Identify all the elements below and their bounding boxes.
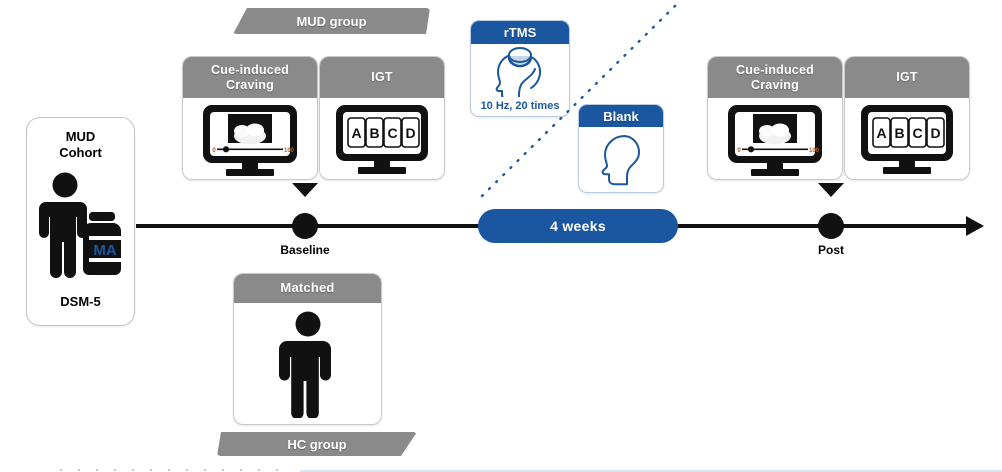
mud-cohort-graphic: MA: [27, 170, 134, 288]
baseline-node-dot: [292, 213, 318, 239]
banner-mud-group: MUD group: [233, 8, 430, 34]
svg-text:100: 100: [809, 148, 820, 154]
person-icon: [275, 310, 341, 418]
hc-matched-label: Matched: [280, 281, 334, 296]
baseline-card-cue-induced-craving: Cue-induced Craving 0 100: [182, 56, 318, 180]
svg-text:C: C: [912, 125, 922, 141]
rtms-note: 10 Hz, 20 times: [471, 100, 569, 112]
monitor-craving-icon: 0 100: [197, 103, 303, 177]
hc-matched-body: [234, 303, 381, 424]
post-node-label: Post: [781, 243, 881, 257]
intervention-card-blank-header: Blank: [579, 105, 663, 127]
post-igt-title: IGT: [896, 70, 917, 84]
figure-canvas: MUD group MUD Cohort MA DSM-5: [0, 0, 1002, 472]
svg-text:C: C: [387, 125, 397, 141]
baseline-craving-title-line2: Craving: [226, 78, 274, 92]
intervention-card-blank: Blank: [578, 104, 664, 193]
mud-cohort-footer: DSM-5: [27, 294, 134, 309]
post-card-cue-induced-craving: Cue-induced Craving 0 100: [707, 56, 843, 180]
post-craving-title-line1: Cue-induced: [736, 63, 814, 77]
blank-header-label: Blank: [603, 109, 638, 124]
svg-text:D: D: [930, 125, 940, 141]
tms-coil-head-icon: [489, 47, 551, 97]
rtms-header-label: rTMS: [504, 25, 537, 40]
duration-pill-4-weeks: 4 weeks: [478, 209, 678, 243]
svg-text:100: 100: [284, 148, 295, 154]
monitor-igt-icon: A B C D: [330, 103, 434, 177]
mud-cohort-box: MUD Cohort MA DSM-5: [26, 117, 135, 326]
baseline-igt-body: A B C D: [320, 98, 444, 180]
head-outline-icon: [595, 132, 647, 188]
post-card-cue-induced-craving-header: Cue-induced Craving: [708, 57, 842, 98]
banner-mud-group-label: MUD group: [296, 14, 366, 29]
svg-text:B: B: [894, 125, 904, 141]
svg-text:A: A: [876, 125, 886, 141]
post-node-triangle-icon: [818, 183, 844, 197]
monitor-craving-icon: 0 100: [722, 103, 828, 177]
baseline-card-igt: IGT A B C D: [319, 56, 445, 180]
baseline-igt-title: IGT: [371, 70, 392, 84]
hc-card-matched: Matched: [233, 273, 382, 425]
svg-text:D: D: [405, 125, 415, 141]
mud-cohort-title-line1: MUD: [66, 129, 96, 144]
banner-hc-group-label: HC group: [287, 437, 346, 452]
svg-text:B: B: [369, 125, 379, 141]
baseline-craving-title-line1: Cue-induced: [211, 63, 289, 77]
baseline-card-igt-header: IGT: [320, 57, 444, 98]
mud-cohort-title-line2: Cohort: [59, 145, 102, 160]
baseline-node-label: Baseline: [255, 243, 355, 257]
blank-body: [579, 127, 663, 193]
duration-pill-label: 4 weeks: [550, 218, 606, 234]
post-igt-body: A B C D: [845, 98, 969, 180]
post-craving-title-line2: Craving: [751, 78, 799, 92]
intervention-card-rtms: rTMS 10 Hz, 20 times: [470, 20, 570, 117]
post-node-dot: [818, 213, 844, 239]
intervention-card-rtms-header: rTMS: [471, 21, 569, 44]
post-card-igt: IGT A B C D: [844, 56, 970, 180]
post-craving-body: 0 100: [708, 98, 842, 180]
hc-card-matched-header: Matched: [234, 274, 381, 303]
baseline-card-cue-induced-craving-header: Cue-induced Craving: [183, 57, 317, 98]
banner-hc-group: HC group: [217, 432, 417, 456]
monitor-igt-icon: A B C D: [855, 103, 959, 177]
person-with-bottle-icon: MA: [27, 170, 136, 288]
baseline-craving-body: 0 100: [183, 98, 317, 180]
baseline-node-triangle-icon: [292, 183, 318, 197]
svg-text:MA: MA: [93, 242, 116, 259]
bottom-edge-dots: [0, 469, 300, 471]
rtms-body: 10 Hz, 20 times: [471, 44, 569, 117]
svg-text:A: A: [351, 125, 361, 141]
arrow-right-icon: [966, 216, 984, 236]
post-card-igt-header: IGT: [845, 57, 969, 98]
mud-cohort-title: MUD Cohort: [27, 129, 134, 162]
